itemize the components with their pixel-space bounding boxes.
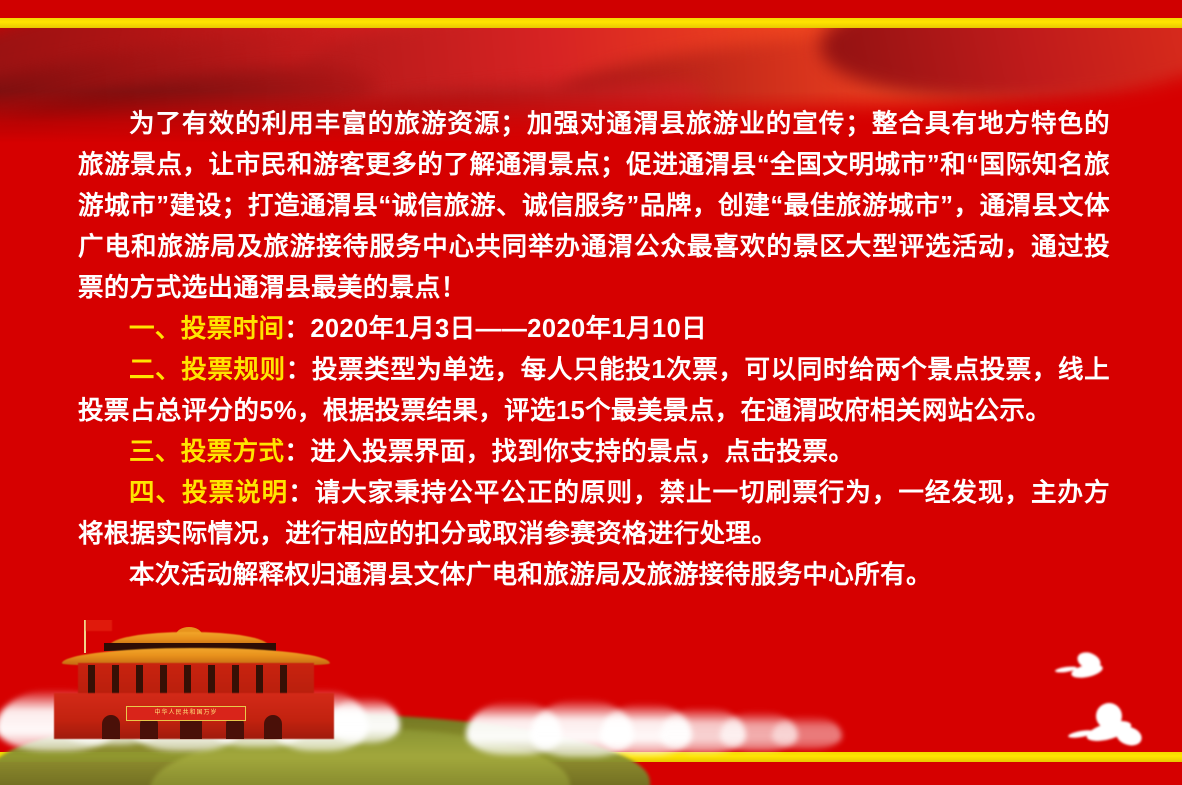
section-separator-2: ： xyxy=(286,356,312,384)
section-heading-1: 一、投票时间 xyxy=(129,315,284,343)
section-separator-4: ： xyxy=(288,479,315,507)
bottom-yellow-stripe xyxy=(0,752,1182,762)
top-yellow-stripe xyxy=(0,18,1182,28)
intro-paragraph: 为了有效的利用丰富的旅游资源；加强对通渭县旅游业的宣传；整合具有地方特色的旅游景… xyxy=(78,104,1110,309)
section-separator-3: ： xyxy=(284,438,310,466)
section-text-3: 进入投票界面，找到你支持的景点，点击投票。 xyxy=(310,438,854,466)
section-separator-1: ： xyxy=(284,315,310,343)
footer-paragraph: 本次活动解释权归通渭县文体广电和旅游局及旅游接待服务中心所有。 xyxy=(78,555,1110,596)
section-vote-time: 一、投票时间：2020年1月3日——2020年1月10日 xyxy=(78,309,1110,350)
section-vote-method: 三、投票方式：进入投票界面，找到你支持的景点，点击投票。 xyxy=(78,432,1110,473)
section-heading-2: 二、投票规则 xyxy=(129,356,286,384)
section-text-1: 2020年1月3日——2020年1月10日 xyxy=(310,315,707,343)
announcement-body: 为了有效的利用丰富的旅游资源；加强对通渭县旅游业的宣传；整合具有地方特色的旅游景… xyxy=(78,104,1110,596)
section-vote-rules: 二、投票规则：投票类型为单选，每人只能投1次票，可以同时给两个景点投票，线上投票… xyxy=(78,350,1110,432)
section-vote-notice: 四、投票说明：请大家秉持公平公正的原则，禁止一切刷票行为，一经发现，主办方将根据… xyxy=(78,473,1110,555)
top-red-band xyxy=(0,0,1182,18)
section-heading-3: 三、投票方式 xyxy=(129,438,284,466)
poster-banner: 为了有效的利用丰富的旅游资源；加强对通渭县旅游业的宣传；整合具有地方特色的旅游景… xyxy=(0,0,1182,785)
section-heading-4: 四、投票说明 xyxy=(129,479,288,507)
